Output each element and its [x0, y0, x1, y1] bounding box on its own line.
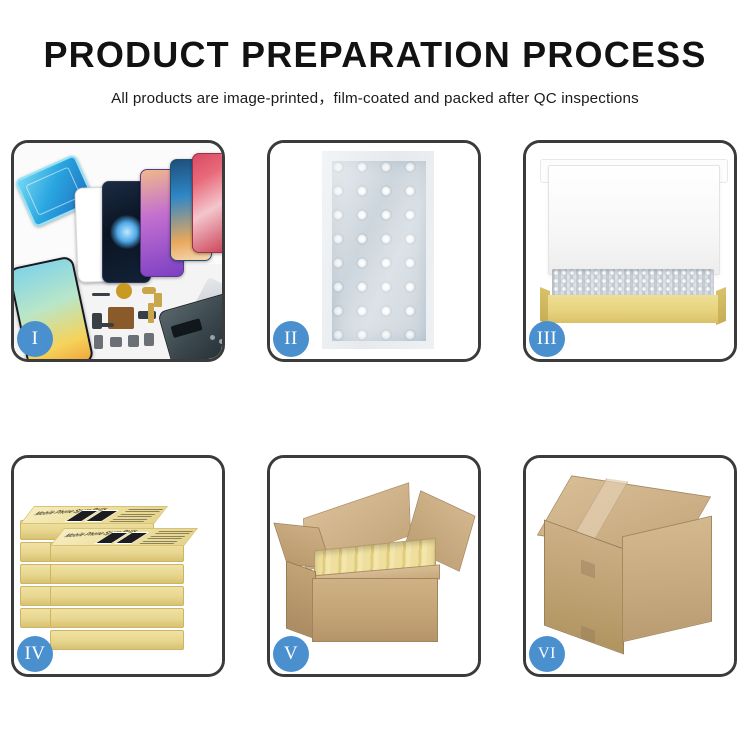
part-battery-connector: [94, 335, 103, 349]
part-earpiece: [128, 335, 139, 347]
process-step-grid: I II III: [11, 140, 739, 677]
part-antenna-strip: [98, 323, 114, 327]
page-subtitle: All products are image-printed，film-coat…: [0, 75, 750, 108]
box-printed-face: Mobile Phone Spare Parts: [20, 506, 168, 524]
carton-front-panel: [312, 578, 438, 642]
part-gold-coil: [116, 283, 132, 299]
screw: [219, 339, 222, 344]
step-badge-4: IV: [17, 636, 53, 672]
box-printed-face: Mobile Phone Spare Parts: [50, 528, 198, 546]
process-step-2[interactable]: II: [267, 140, 481, 362]
step-3-image: III: [526, 143, 734, 359]
part-speaker-mesh: [92, 293, 110, 296]
part-flex-cable-3: [148, 303, 154, 323]
process-step-1[interactable]: I: [11, 140, 225, 362]
step-badge-1: I: [17, 321, 53, 357]
step-badge-3: III: [529, 321, 565, 357]
part-flex-cable-2: [154, 293, 162, 307]
screw: [210, 335, 215, 340]
step-2-image: II: [270, 143, 478, 359]
retail-box: [50, 630, 184, 650]
screws-group: [210, 335, 222, 351]
carton-right-panel: [622, 516, 712, 643]
process-step-5[interactable]: V: [267, 455, 481, 677]
step-badge-2: II: [273, 321, 309, 357]
step-badge-5: V: [273, 636, 309, 672]
step-6-image: VI: [526, 458, 734, 674]
step-1-image: I: [14, 143, 222, 359]
retail-box: [50, 608, 184, 628]
phone-screen-red: [192, 153, 222, 253]
retail-box: [50, 586, 184, 606]
process-step-4[interactable]: Mobile Phone Spare Parts Mobil: [11, 455, 225, 677]
box-label-spec-lines: [141, 531, 194, 543]
process-step-6[interactable]: VI: [523, 455, 737, 677]
step-5-image: V: [270, 458, 478, 674]
header: PRODUCT PREPARATION PROCESS All products…: [0, 0, 750, 108]
process-step-3[interactable]: III: [523, 140, 737, 362]
retail-box: [50, 564, 184, 584]
part-sim-tray: [144, 333, 154, 346]
box-lid-open: [548, 165, 720, 275]
page-title: PRODUCT PREPARATION PROCESS: [0, 0, 750, 75]
step-4-image: Mobile Phone Spare Parts Mobil: [14, 458, 222, 674]
bubble-wrap-gloss: [332, 161, 426, 341]
box-label-spec-lines: [111, 509, 164, 521]
box-front-panel: [548, 295, 718, 323]
step-badge-6: VI: [529, 636, 565, 672]
bubble-wrapped-contents: [552, 269, 714, 297]
retail-box-top: Mobile Phone Spare Parts: [50, 542, 184, 562]
part-vibration-motor: [110, 337, 122, 347]
